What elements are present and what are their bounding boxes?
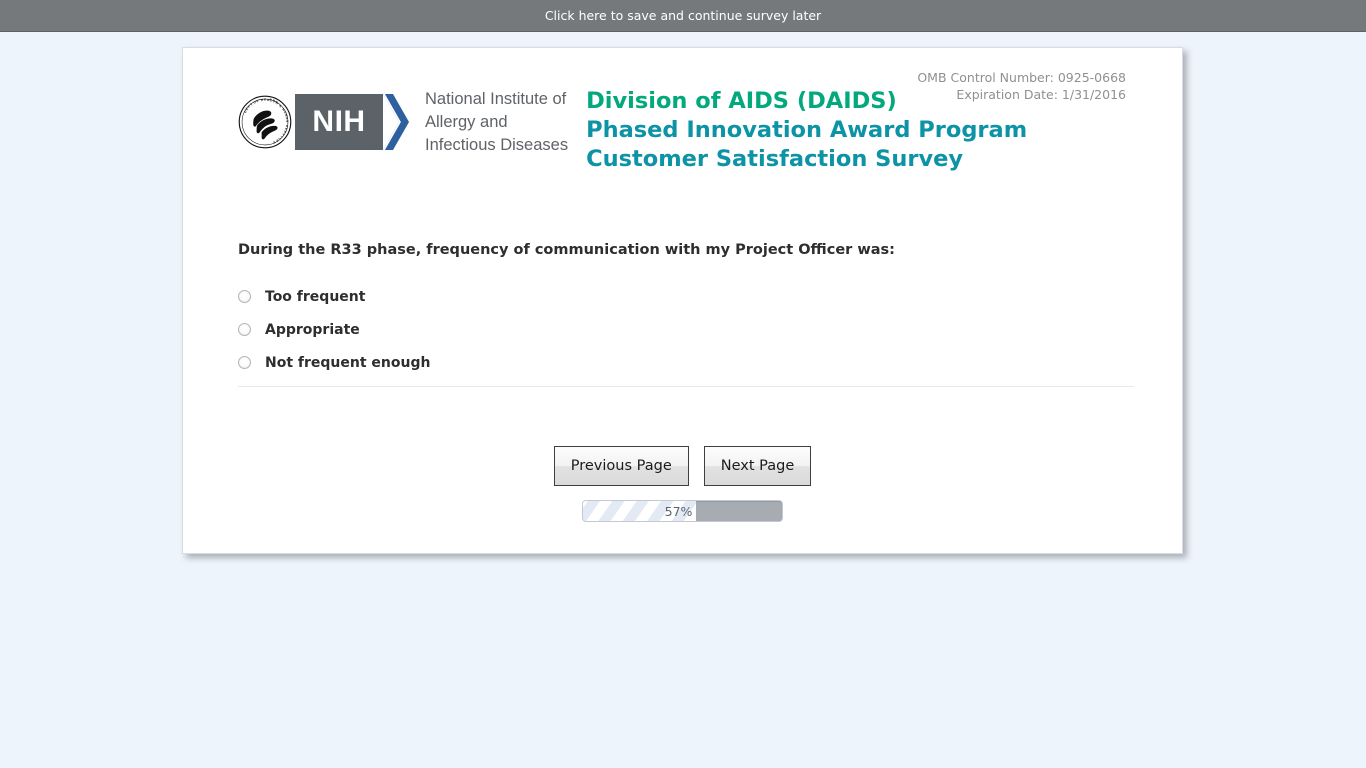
radio-button-not-frequent-enough[interactable] bbox=[238, 356, 251, 369]
nih-wordmark: NIH bbox=[295, 94, 413, 150]
question-text: During the R33 phase, frequency of commu… bbox=[238, 242, 895, 258]
save-and-continue-bar: Click here to save and continue survey l… bbox=[0, 0, 1366, 32]
survey-title-line3: Customer Satisfaction Survey bbox=[586, 145, 1027, 174]
institute-name-line1: National Institute of bbox=[425, 88, 568, 111]
answer-options: Too frequent Appropriate Not frequent en… bbox=[238, 280, 1118, 379]
section-divider bbox=[238, 386, 1134, 387]
answer-option-appropriate[interactable]: Appropriate bbox=[238, 313, 1118, 346]
svg-text:H: H bbox=[261, 98, 264, 102]
survey-title-line1: Division of AIDS (DAIDS) bbox=[586, 87, 1027, 116]
omb-control-number: OMB Control Number: 0925-0668 bbox=[917, 69, 1126, 86]
answer-label-not-frequent-enough: Not frequent enough bbox=[265, 355, 430, 371]
nih-block: NIH bbox=[295, 94, 383, 150]
radio-button-too-frequent[interactable] bbox=[238, 290, 251, 303]
institute-name-line3: Infectious Diseases bbox=[425, 134, 568, 157]
svg-text:S: S bbox=[285, 125, 289, 128]
survey-title-line2: Phased Innovation Award Program bbox=[586, 116, 1027, 145]
hhs-seal-icon: D E P T O F H E A L T H & H U M A bbox=[237, 94, 293, 150]
svg-text:E: E bbox=[264, 98, 266, 102]
nih-text: NIH bbox=[312, 105, 365, 139]
answer-label-too-frequent: Too frequent bbox=[265, 289, 365, 305]
survey-progress-bar: 57% bbox=[582, 500, 783, 522]
progress-percent-label: 57% bbox=[665, 501, 697, 522]
answer-option-too-frequent[interactable]: Too frequent bbox=[238, 280, 1118, 313]
survey-header: D E P T O F H E A L T H & H U M A bbox=[237, 91, 1027, 174]
survey-card: OMB Control Number: 0925-0668 Expiration… bbox=[182, 47, 1183, 554]
navigation-buttons: Previous Page Next Page bbox=[183, 446, 1182, 486]
progress-bar-wrapper: 57% bbox=[183, 500, 1182, 522]
svg-text:U: U bbox=[269, 97, 272, 101]
answer-label-appropriate: Appropriate bbox=[265, 322, 360, 338]
svg-text:N: N bbox=[285, 120, 289, 122]
radio-button-appropriate[interactable] bbox=[238, 323, 251, 336]
svg-text:S: S bbox=[273, 140, 277, 144]
previous-page-button[interactable]: Previous Page bbox=[554, 446, 689, 486]
answer-option-not-frequent-enough[interactable]: Not frequent enough bbox=[238, 346, 1118, 379]
svg-text:F: F bbox=[256, 99, 259, 103]
next-page-button[interactable]: Next Page bbox=[704, 446, 812, 486]
svg-text:&: & bbox=[278, 104, 283, 109]
save-and-continue-link[interactable]: Click here to save and continue survey l… bbox=[0, 0, 1366, 32]
institute-name: National Institute of Allergy and Infect… bbox=[425, 88, 568, 157]
survey-title: Division of AIDS (DAIDS) Phased Innovati… bbox=[586, 87, 1027, 174]
institute-name-line2: Allergy and bbox=[425, 111, 568, 134]
nih-chevron-icon bbox=[383, 94, 413, 150]
nih-niaid-logo: D E P T O F H E A L T H & H U M A bbox=[237, 91, 568, 153]
